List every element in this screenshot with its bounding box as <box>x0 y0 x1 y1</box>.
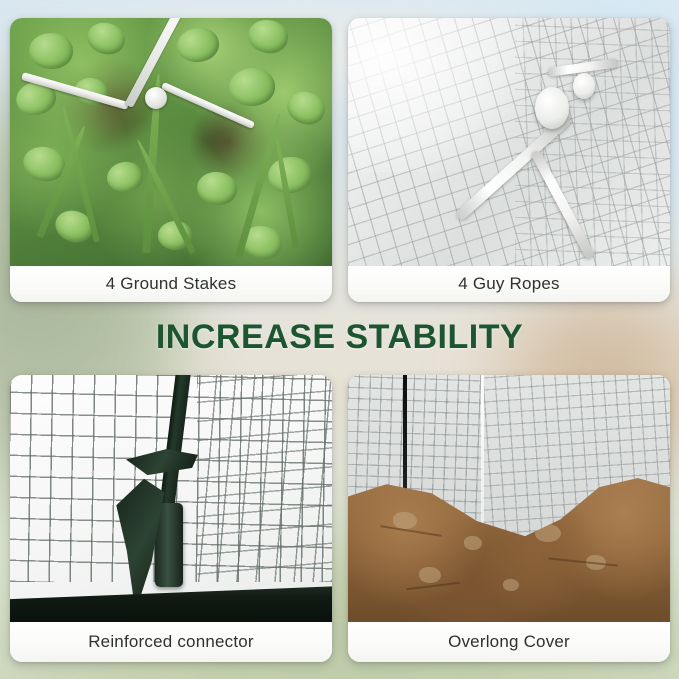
headline-increase-stability: INCREASE STABILITY <box>0 318 679 357</box>
rope-knot <box>535 87 569 129</box>
caption-guy-ropes: 4 Guy Ropes <box>348 266 670 302</box>
feature-card-ground-stakes[interactable]: 4 Ground Stakes <box>10 18 332 302</box>
stake-hub <box>145 87 167 109</box>
photo-ground-stakes <box>10 18 332 266</box>
caption-overlong-cover: Overlong Cover <box>348 622 670 662</box>
product-feature-infographic: 4 Ground Stakes 4 Guy Ropes Reinforced c… <box>0 0 679 679</box>
photo-reinforced-connector <box>10 375 332 622</box>
caption-ground-stakes: 4 Ground Stakes <box>10 266 332 302</box>
photo-overlong-cover <box>348 375 670 622</box>
photo-guy-ropes <box>348 18 670 266</box>
frame-base-bar <box>10 582 332 622</box>
feature-card-guy-ropes[interactable]: 4 Guy Ropes <box>348 18 670 302</box>
caption-reinforced-connector: Reinforced connector <box>10 622 332 662</box>
mesh-grid-right <box>197 375 332 582</box>
highlight-fade <box>348 18 525 172</box>
feature-card-reinforced-connector[interactable]: Reinforced connector <box>10 375 332 662</box>
rope-knot-secondary <box>573 73 595 99</box>
feature-card-overlong-cover[interactable]: Overlong Cover <box>348 375 670 662</box>
frame-rod <box>403 375 407 489</box>
